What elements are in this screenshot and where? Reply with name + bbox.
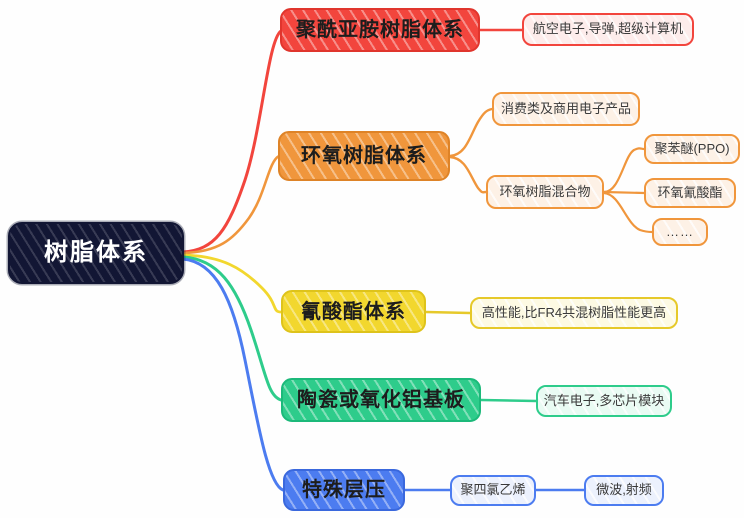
leaf-node-ptfe-label: 聚四氯乙烯 xyxy=(461,483,526,497)
leaf-node-epoxy-blend[interactable]: 环氧树脂混合物 xyxy=(486,175,604,209)
link-root-to-cyanate xyxy=(183,255,281,312)
branch-node-special-laminate[interactable]: 特殊层压 xyxy=(283,469,405,511)
leaf-node-polyimide-applications[interactable]: 航空电子,导弹,超级计算机 xyxy=(522,13,694,46)
link-epoxy-to-consumer xyxy=(450,109,492,156)
leaf-node-ppo-label: 聚苯醚(PPO) xyxy=(654,142,729,156)
link-root-to-epoxy xyxy=(183,156,279,253)
leaf-node-microwave-rf[interactable]: 微波,射频 xyxy=(584,475,664,506)
leaf-node-epoxy-more-label: …… xyxy=(666,225,694,239)
branch-node-cyanate-label: 氰酸酯体系 xyxy=(301,301,406,323)
root-node[interactable]: 树脂体系 xyxy=(8,222,184,284)
link-cyanate-to-leaf xyxy=(426,312,470,313)
leaf-node-cyanate-performance-label: 高性能,比FR4共混树脂性能更高 xyxy=(482,306,666,320)
leaf-node-epoxy-cyanate[interactable]: 环氧氰酸酯 xyxy=(644,178,736,208)
branch-node-epoxy[interactable]: 环氧树脂体系 xyxy=(278,131,450,181)
branch-node-polyimide[interactable]: 聚酰亚胺树脂体系 xyxy=(280,8,480,52)
branch-node-special-laminate-label: 特殊层压 xyxy=(302,479,386,501)
mindmap-canvas: 树脂体系 聚酰亚胺树脂体系 航空电子,导弹,超级计算机 环氧树脂体系 消费类及商… xyxy=(0,0,744,518)
link-epoxy-to-blend xyxy=(450,157,486,192)
branch-node-ceramic[interactable]: 陶瓷或氧化铝基板 xyxy=(281,378,481,422)
root-node-label: 树脂体系 xyxy=(44,240,148,266)
leaf-node-epoxy-consumer[interactable]: 消费类及商用电子产品 xyxy=(492,92,640,126)
link-root-to-special xyxy=(183,259,283,490)
link-ceramic-to-leaf xyxy=(481,400,536,401)
leaf-node-microwave-rf-label: 微波,射频 xyxy=(596,483,652,497)
link-blend-to-epoxy-cyanate xyxy=(604,192,644,193)
link-root-to-polyimide xyxy=(183,31,281,252)
link-root-to-ceramic xyxy=(183,257,281,400)
leaf-node-cyanate-performance[interactable]: 高性能,比FR4共混树脂性能更高 xyxy=(470,297,678,329)
link-blend-to-ppo xyxy=(604,148,644,192)
leaf-node-ppo[interactable]: 聚苯醚(PPO) xyxy=(644,134,740,164)
leaf-node-ptfe[interactable]: 聚四氯乙烯 xyxy=(450,475,536,506)
leaf-node-epoxy-cyanate-label: 环氧氰酸酯 xyxy=(657,186,722,200)
leaf-node-ceramic-applications[interactable]: 汽车电子,多芯片模块 xyxy=(536,385,672,417)
leaf-node-polyimide-applications-label: 航空电子,导弹,超级计算机 xyxy=(533,22,683,36)
leaf-node-epoxy-more[interactable]: …… xyxy=(652,218,708,246)
branch-node-epoxy-label: 环氧树脂体系 xyxy=(301,145,427,167)
leaf-node-epoxy-blend-label: 环氧树脂混合物 xyxy=(499,185,590,199)
leaf-node-ceramic-applications-label: 汽车电子,多芯片模块 xyxy=(544,394,665,408)
branch-node-polyimide-label: 聚酰亚胺树脂体系 xyxy=(296,19,464,41)
branch-node-cyanate[interactable]: 氰酸酯体系 xyxy=(281,290,426,333)
leaf-node-epoxy-consumer-label: 消费类及商用电子产品 xyxy=(501,102,631,116)
branch-node-ceramic-label: 陶瓷或氧化铝基板 xyxy=(297,389,465,411)
